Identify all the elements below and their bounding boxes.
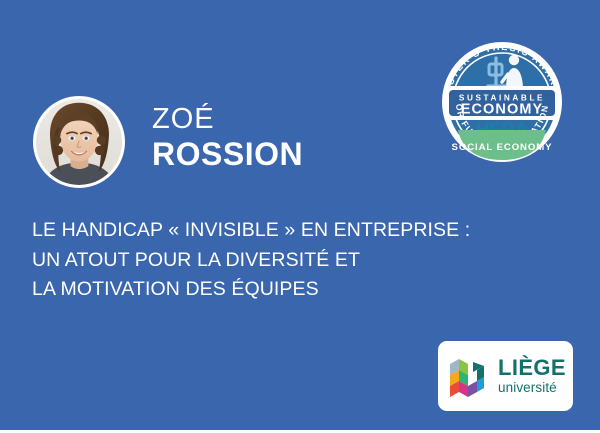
hera-badge-icon: MASTER'S THESIS AWARDS SUSTAINABLE ECONO… (432, 24, 572, 174)
speaker-name: ZOÉ ROSSION (152, 104, 412, 173)
uliege-city-label: LIÈGE (498, 357, 566, 379)
talk-title-line-3: LA MOTIVATION DES ÉQUIPES (32, 275, 552, 305)
hera-award-badge: MASTER'S THESIS AWARDS SUSTAINABLE ECONO… (432, 24, 572, 174)
uliege-mark-icon (448, 355, 490, 397)
badge-banner-large-text: ECONOMY (461, 102, 544, 118)
speaker-card: ZOÉ ROSSION LE HANDICAP « INVISIBLE » EN… (0, 0, 600, 433)
badge-ribbon-text: SOCIAL ECONOMY (452, 142, 553, 153)
talk-title-line-1: LE HANDICAP « INVISIBLE » EN ENTREPRISE … (32, 216, 552, 246)
talk-title-line-2: UN ATOUT POUR LA DIVERSITÉ ET (32, 246, 552, 276)
talk-title: LE HANDICAP « INVISIBLE » EN ENTREPRISE … (32, 216, 552, 305)
avatar (33, 96, 125, 188)
speaker-first-name: ZOÉ (152, 104, 412, 135)
uliege-logo: LIÈGE université (438, 341, 573, 411)
portrait-photo (36, 99, 122, 185)
uliege-wordmark: LIÈGE université (498, 357, 566, 396)
speaker-last-name: ROSSION (152, 137, 412, 173)
uliege-kind-label: université (498, 381, 566, 396)
